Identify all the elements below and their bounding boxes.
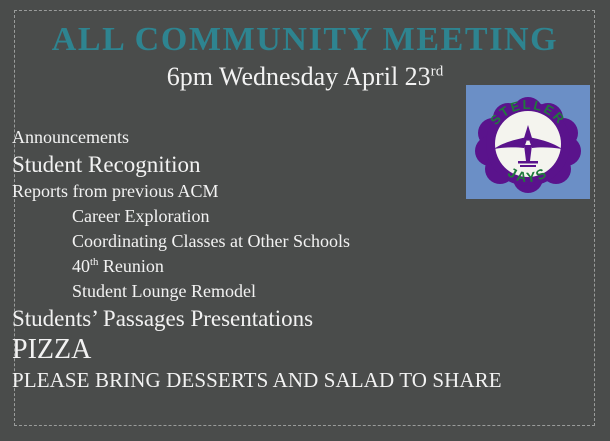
agenda-subitem-reunion: 40th Reunion [12, 254, 598, 279]
agenda-item-passages-presentations: Students’ Passages Presentations [12, 304, 598, 333]
agenda-subitem-reunion-label: Reunion [98, 256, 164, 276]
agenda-list: Announcements Student Recognition Report… [12, 125, 598, 394]
agenda-subitem-reunion-number: 40 [72, 256, 90, 276]
slide-title: ALL COMMUNITY MEETING [0, 20, 610, 60]
agenda-item-announcements: Announcements [12, 125, 598, 150]
agenda-item-student-recognition: Student Recognition [12, 150, 598, 179]
agenda-item-pizza: PIZZA [12, 333, 598, 367]
agenda-subitem-student-lounge-remodel: Student Lounge Remodel [12, 279, 598, 304]
agenda-subitem-coordinating-classes: Coordinating Classes at Other Schools [12, 229, 598, 254]
agenda-item-reports-previous-acm: Reports from previous ACM [12, 179, 598, 204]
slide-subtitle-text: 6pm Wednesday April 23 [167, 62, 431, 91]
slide-subtitle-ordinal: rd [431, 63, 444, 79]
agenda-subitem-career-exploration: Career Exploration [12, 204, 598, 229]
agenda-item-bring-desserts: PLEASE BRING DESSERTS AND SALAD TO SHARE [12, 367, 598, 394]
presentation-slide: ALL COMMUNITY MEETING 6pm Wednesday Apri… [0, 0, 610, 441]
